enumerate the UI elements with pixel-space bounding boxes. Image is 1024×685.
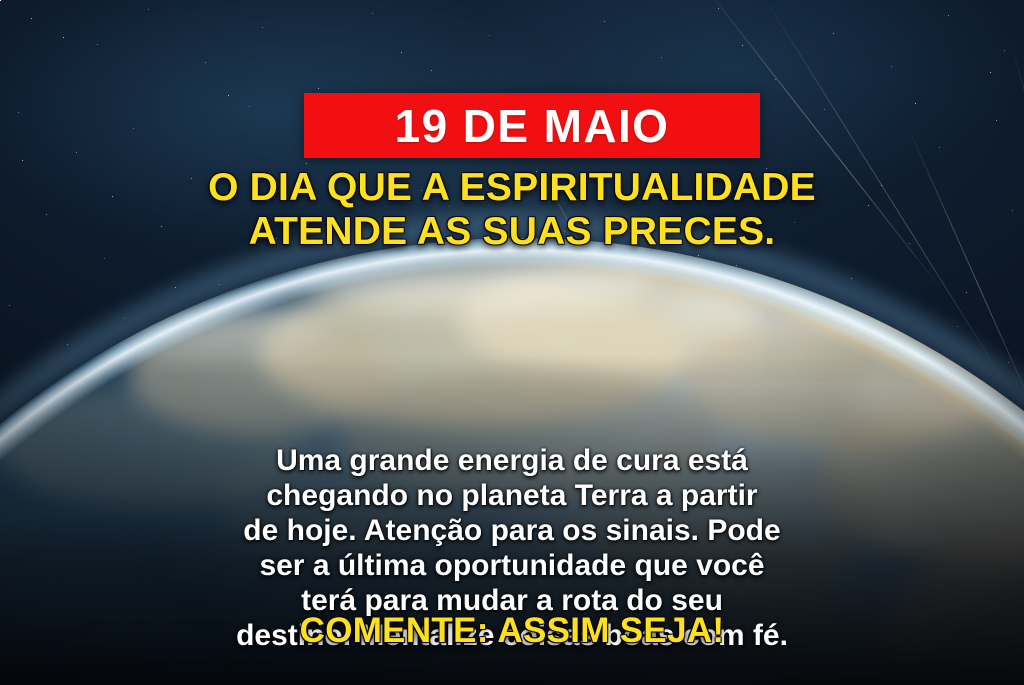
poster-content: 19 DE MAIO O DIA QUE A ESPIRITUALIDADE A…: [0, 0, 1024, 685]
headline-line-1: O DIA QUE A ESPIRITUALIDADE: [46, 166, 978, 210]
call-to-action: COMENTE: ASSIM SEJA!: [0, 613, 1024, 648]
headline: O DIA QUE A ESPIRITUALIDADE ATENDE AS SU…: [0, 166, 1024, 254]
headline-line-2: ATENDE AS SUAS PRECES.: [46, 210, 978, 254]
body-line-2: chegando no planeta Terra a partir: [40, 479, 984, 514]
body-line-1: Uma grande energia de cura está: [40, 444, 984, 479]
date-banner: 19 DE MAIO: [304, 93, 760, 158]
call-to-action-text: COMENTE: ASSIM SEJA!: [300, 611, 725, 650]
body-line-3: de hoje. Atenção para os sinais. Pode: [40, 514, 984, 549]
body-line-4: ser a última oportunidade que você: [40, 549, 984, 584]
poster-canvas: 19 DE MAIO O DIA QUE A ESPIRITUALIDADE A…: [0, 0, 1024, 685]
date-banner-text: 19 DE MAIO: [395, 103, 670, 149]
